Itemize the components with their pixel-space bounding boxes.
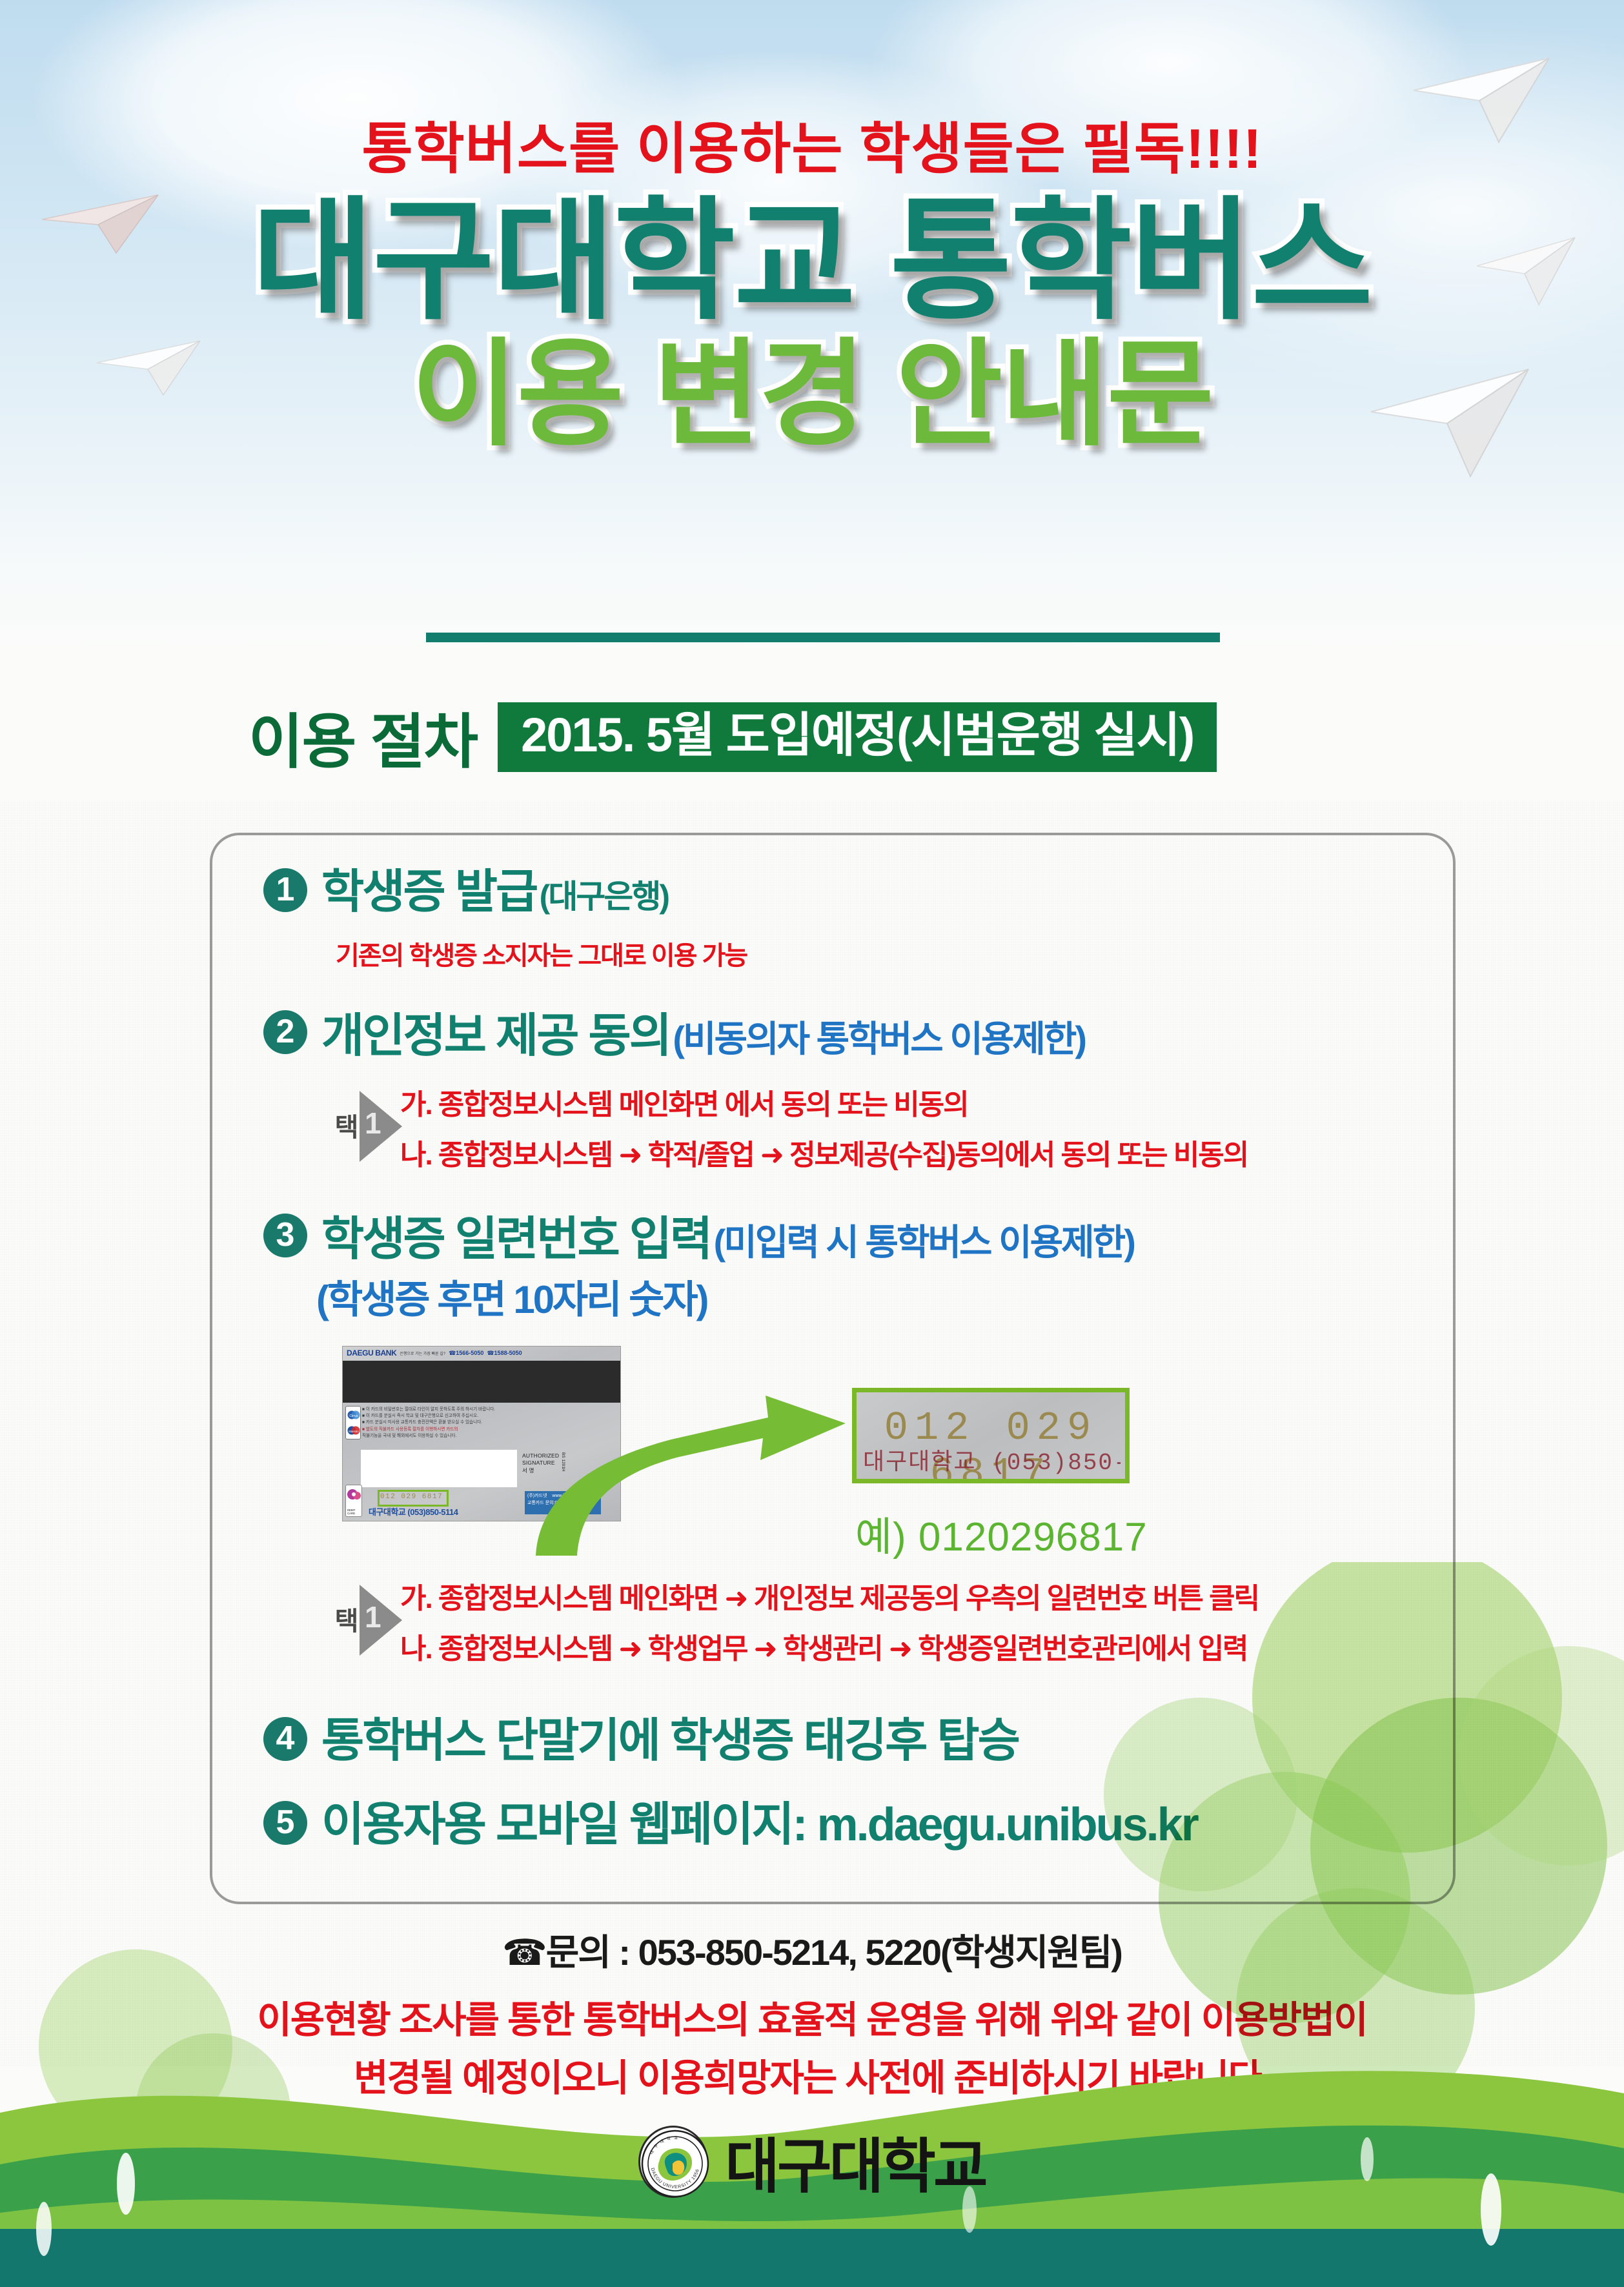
pick-one-triangle-icon-2: 1	[360, 1091, 402, 1162]
step-options-2: 가. 종합정보시스템 메인화면 에서 동의 또는 비동의 나. 종합정보시스템 …	[400, 1084, 1248, 1176]
debit-swirl-icon	[346, 1485, 363, 1507]
step-number-4: 4	[263, 1717, 307, 1761]
step-item-2: 2 개인정보 제공 동의 (비동의자 통학버스 이용제한)	[263, 1010, 1085, 1062]
step-item-3: 3 학생증 일련번호 입력 (미입력 시 통학버스 이용제한)	[263, 1214, 1134, 1266]
debit-card-logo-icon: DEBIT CARD	[345, 1485, 362, 1517]
step-note-1: 기존의 학생증 소지자는 그대로 이용 가능	[336, 936, 747, 976]
card-slogan: 은행으로 가는 가장 빠른 길?	[400, 1350, 445, 1356]
step-number-2: 2	[263, 1010, 307, 1054]
poster-title: 대구대학교 통학버스 이용 변경 안내문	[0, 194, 1624, 456]
step-title-3: 학생증 일련번호 입력	[321, 1214, 711, 1265]
watercolor-green-blobs	[1007, 1562, 1624, 2091]
title-divider	[426, 633, 1220, 642]
university-name: 대구대학교	[725, 2119, 985, 2204]
step-option-2b: 나. 종합정보시스템 ➜ 학적/졸업 ➜ 정보제공(수집)동의에서 동의 또는 …	[400, 1135, 1248, 1176]
step-paren-1: (대구은행)	[540, 879, 668, 915]
step-item-1: 1 학생증 발급 (대구은행)	[263, 868, 668, 917]
svg-text:Cirrus: Cirrus	[349, 1414, 358, 1418]
cirrus-maestro-logo-icon: Cirrus Maestro	[345, 1406, 361, 1439]
card-bank-name: DAEGU BANK	[347, 1348, 396, 1357]
pick-one-number-2: 1	[365, 1108, 381, 1138]
poster-headline: 통학버스를 이용하는 학생들은 필독!!!!	[0, 103, 1624, 184]
step-number-1: 1	[263, 868, 307, 912]
university-seal-graphic: 대 구 대 학 교 DAEGU UNIVERSITY 1956	[640, 2128, 710, 2200]
maestro-icon: Maestro	[347, 1424, 360, 1437]
card-signature-panel	[361, 1450, 517, 1487]
pick-one-number-3: 1	[365, 1602, 381, 1632]
green-curved-arrow-icon	[510, 1362, 871, 1575]
debit-card-label: DEBIT CARD	[347, 1509, 361, 1515]
step-paren-2: (비동의자 통학버스 이용제한)	[673, 1019, 1085, 1059]
section-header: 이용 절차 2015. 5월 도입예정(시범운행 실시)	[249, 694, 1217, 780]
pick-one-marker-2: 택 1	[331, 1091, 402, 1162]
step-option-2a: 가. 종합정보시스템 메인화면 에서 동의 또는 비동의	[400, 1084, 1248, 1126]
step-title-2: 개인정보 제공 동의	[321, 1010, 670, 1062]
pick-one-label-3: 택	[331, 1607, 357, 1633]
serial-zoom-callout: 012 029 6817 대구대학교 (053)850-5	[852, 1388, 1130, 1483]
poster-title-line1: 대구대학교 통학버스	[0, 194, 1624, 329]
card-tel-2: ☎1588-5050	[487, 1350, 522, 1357]
university-logo-row: 대 구 대 학 교 DAEGU UNIVERSITY 1956 대구대학교	[0, 2119, 1624, 2204]
poster-title-line2: 이용 변경 안내문	[0, 334, 1624, 456]
pick-one-triangle-icon-3: 1	[360, 1585, 402, 1656]
card-serial-number: 012 029 6817	[380, 1493, 443, 1501]
pick-one-marker-3: 택 1	[331, 1585, 402, 1656]
card-school-line: 대구대학교 (053)850-5114	[369, 1505, 458, 1518]
step-item-4: 4 통학버스 단말기에 학생증 태깅후 탑승	[263, 1717, 1019, 1766]
pick-one-label-2: 택	[331, 1113, 357, 1139]
step-number-5: 5	[263, 1801, 307, 1845]
card-tel-1: ☎1566-5050	[449, 1350, 483, 1357]
serial-zoom-underline-text: 대구대학교 (053)850-5	[863, 1443, 1121, 1476]
step-title-4: 통학버스 단말기에 학생증 태깅후 탑승	[321, 1717, 1019, 1766]
svg-text:Maestro: Maestro	[349, 1430, 359, 1433]
step-number-3: 3	[263, 1214, 307, 1257]
section-title: 이용 절차	[249, 694, 477, 780]
serial-example-text: 예) 0120296817	[855, 1504, 1148, 1562]
university-seal-icon: 대 구 대 학 교 DAEGU UNIVERSITY 1956	[638, 2126, 708, 2198]
section-badge: 2015. 5월 도입예정(시범운행 실시)	[498, 702, 1217, 772]
step-subtitle-3: (학생증 후면 10자리 숫자)	[316, 1268, 707, 1325]
step-title-1: 학생증 발급	[321, 866, 536, 918]
cirrus-icon: Cirrus	[347, 1408, 360, 1421]
card-top-bar: DAEGU BANK 은행으로 가는 가장 빠른 길? ☎1566-5050 ☎…	[343, 1347, 620, 1359]
step-paren-3: (미입력 시 통학버스 이용제한)	[714, 1222, 1134, 1263]
